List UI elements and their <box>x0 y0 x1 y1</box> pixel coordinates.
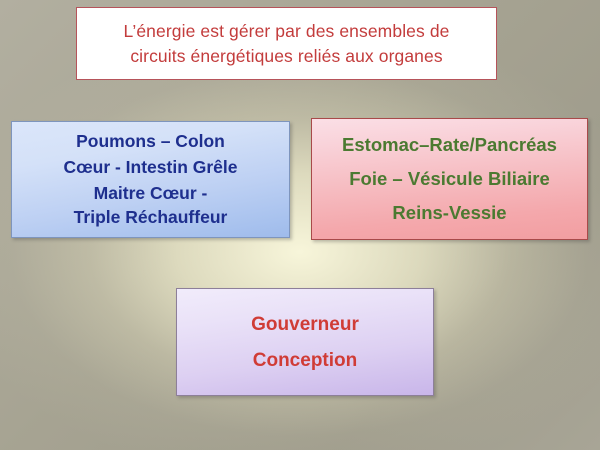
energy-statement-line-2: circuits énergétiques reliés aux organes <box>77 44 496 69</box>
blue-line-coeur-intestin-grele: Cœur - Intestin Grêle <box>18 156 283 178</box>
organ-circuits-pink-box[interactable]: Estomac–Rate/Pancréas Foie – Vésicule Bi… <box>311 118 588 240</box>
purple-line-conception: Conception <box>183 349 427 372</box>
pink-line-foie-vesicule-biliaire: Foie – Vésicule Biliaire <box>318 167 581 191</box>
energy-statement-line-1: L’énergie est gérer par des ensembles de <box>77 19 496 44</box>
blue-line-poumons-colon: Poumons – Colon <box>18 130 283 152</box>
pink-line-reins-vessie: Reins-Vessie <box>318 201 581 225</box>
organ-circuits-blue-box[interactable]: Poumons – Colon Cœur - Intestin Grêle Ma… <box>11 121 290 238</box>
extraordinary-vessels-purple-box[interactable]: Gouverneur Conception <box>176 288 434 396</box>
pink-line-estomac-rate-pancreas: Estomac–Rate/Pancréas <box>318 133 581 157</box>
purple-line-gouverneur: Gouverneur <box>183 313 427 336</box>
energy-statement-box[interactable]: L’énergie est gérer par des ensembles de… <box>76 7 497 80</box>
blue-line-triple-rechauffeur: Triple Réchauffeur <box>18 207 283 227</box>
blue-line-maitre-coeur: Maitre Cœur - <box>18 183 283 203</box>
slide-canvas: L’énergie est gérer par des ensembles de… <box>0 0 600 450</box>
